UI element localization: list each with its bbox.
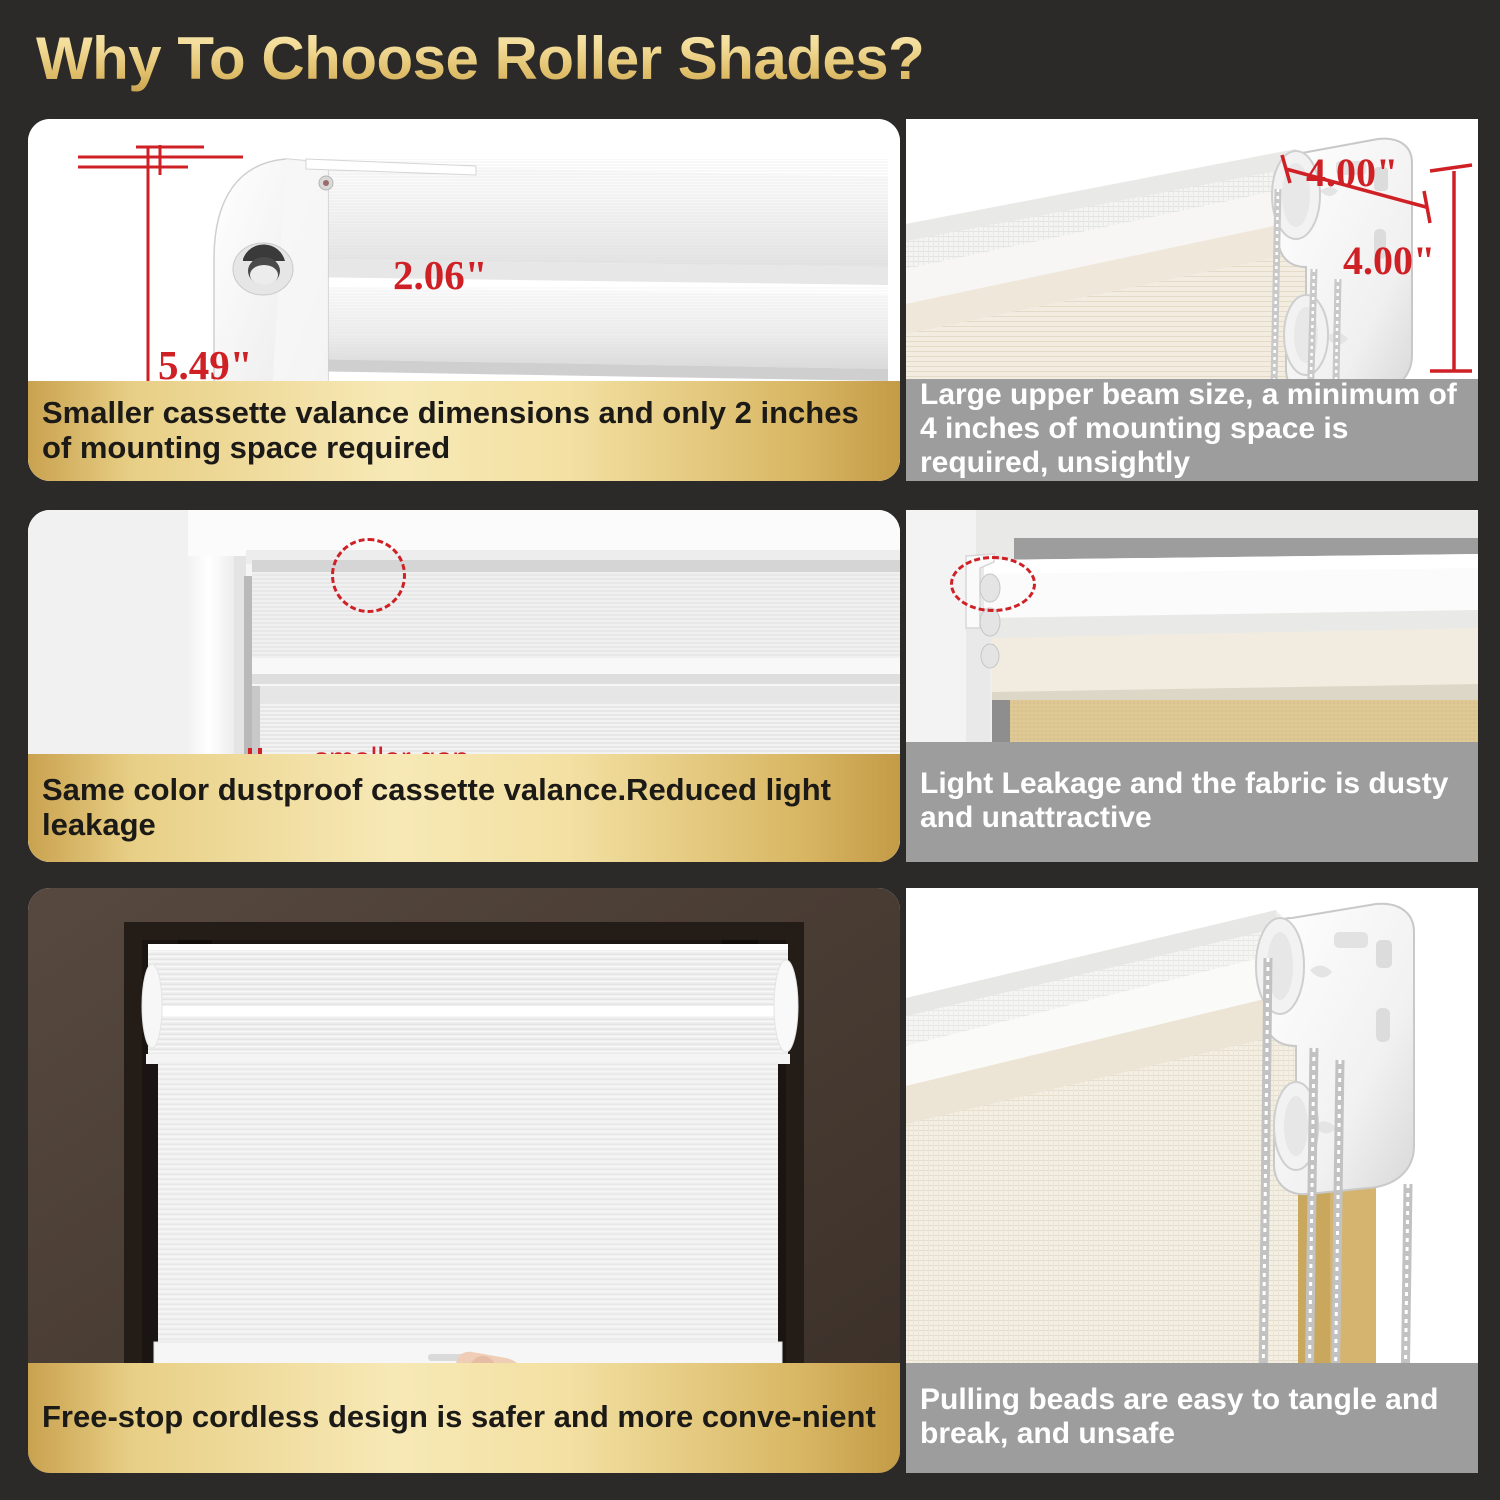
panel-cassette-dimensions: 2.06" 5.49" Smaller cassette valance dim… xyxy=(28,119,900,481)
panel-pulling-beads: Pulling beads are easy to tangle and bre… xyxy=(906,888,1478,1473)
panel-cordless-design: Free-stop cordless design is safer and m… xyxy=(28,888,900,1473)
panel-caption: Free-stop cordless design is safer and m… xyxy=(28,1363,900,1473)
panel-caption: Smaller cassette valance dimensions and … xyxy=(28,381,900,481)
panel-large-upper-beam: 4.00" 4.00" Large upper beam size, a min… xyxy=(906,119,1478,481)
panel-caption: Large upper beam size, a minimum of 4 in… xyxy=(906,379,1478,481)
panel-caption: Same color dustproof cassette valance.Re… xyxy=(28,754,900,862)
width-dimension-label: 2.06" xyxy=(393,251,488,299)
gap-detail-circle xyxy=(950,556,1036,612)
panel-smaller-gap: smaller gap Same color dustproof cassett… xyxy=(28,510,900,862)
page-title: Why To Choose Roller Shades? xyxy=(36,24,924,93)
beam-width-dimension-label: 4.00" xyxy=(1306,149,1398,196)
panel-caption: Pulling beads are easy to tangle and bre… xyxy=(906,1363,1478,1473)
panel-caption: Light Leakage and the fabric is dusty an… xyxy=(906,742,1478,862)
valance-detail-circle xyxy=(331,538,406,613)
panel-large-gap: Large gap Light Leakage and the fabric i… xyxy=(906,510,1478,862)
beam-height-dimension-label: 4.00" xyxy=(1343,237,1435,284)
